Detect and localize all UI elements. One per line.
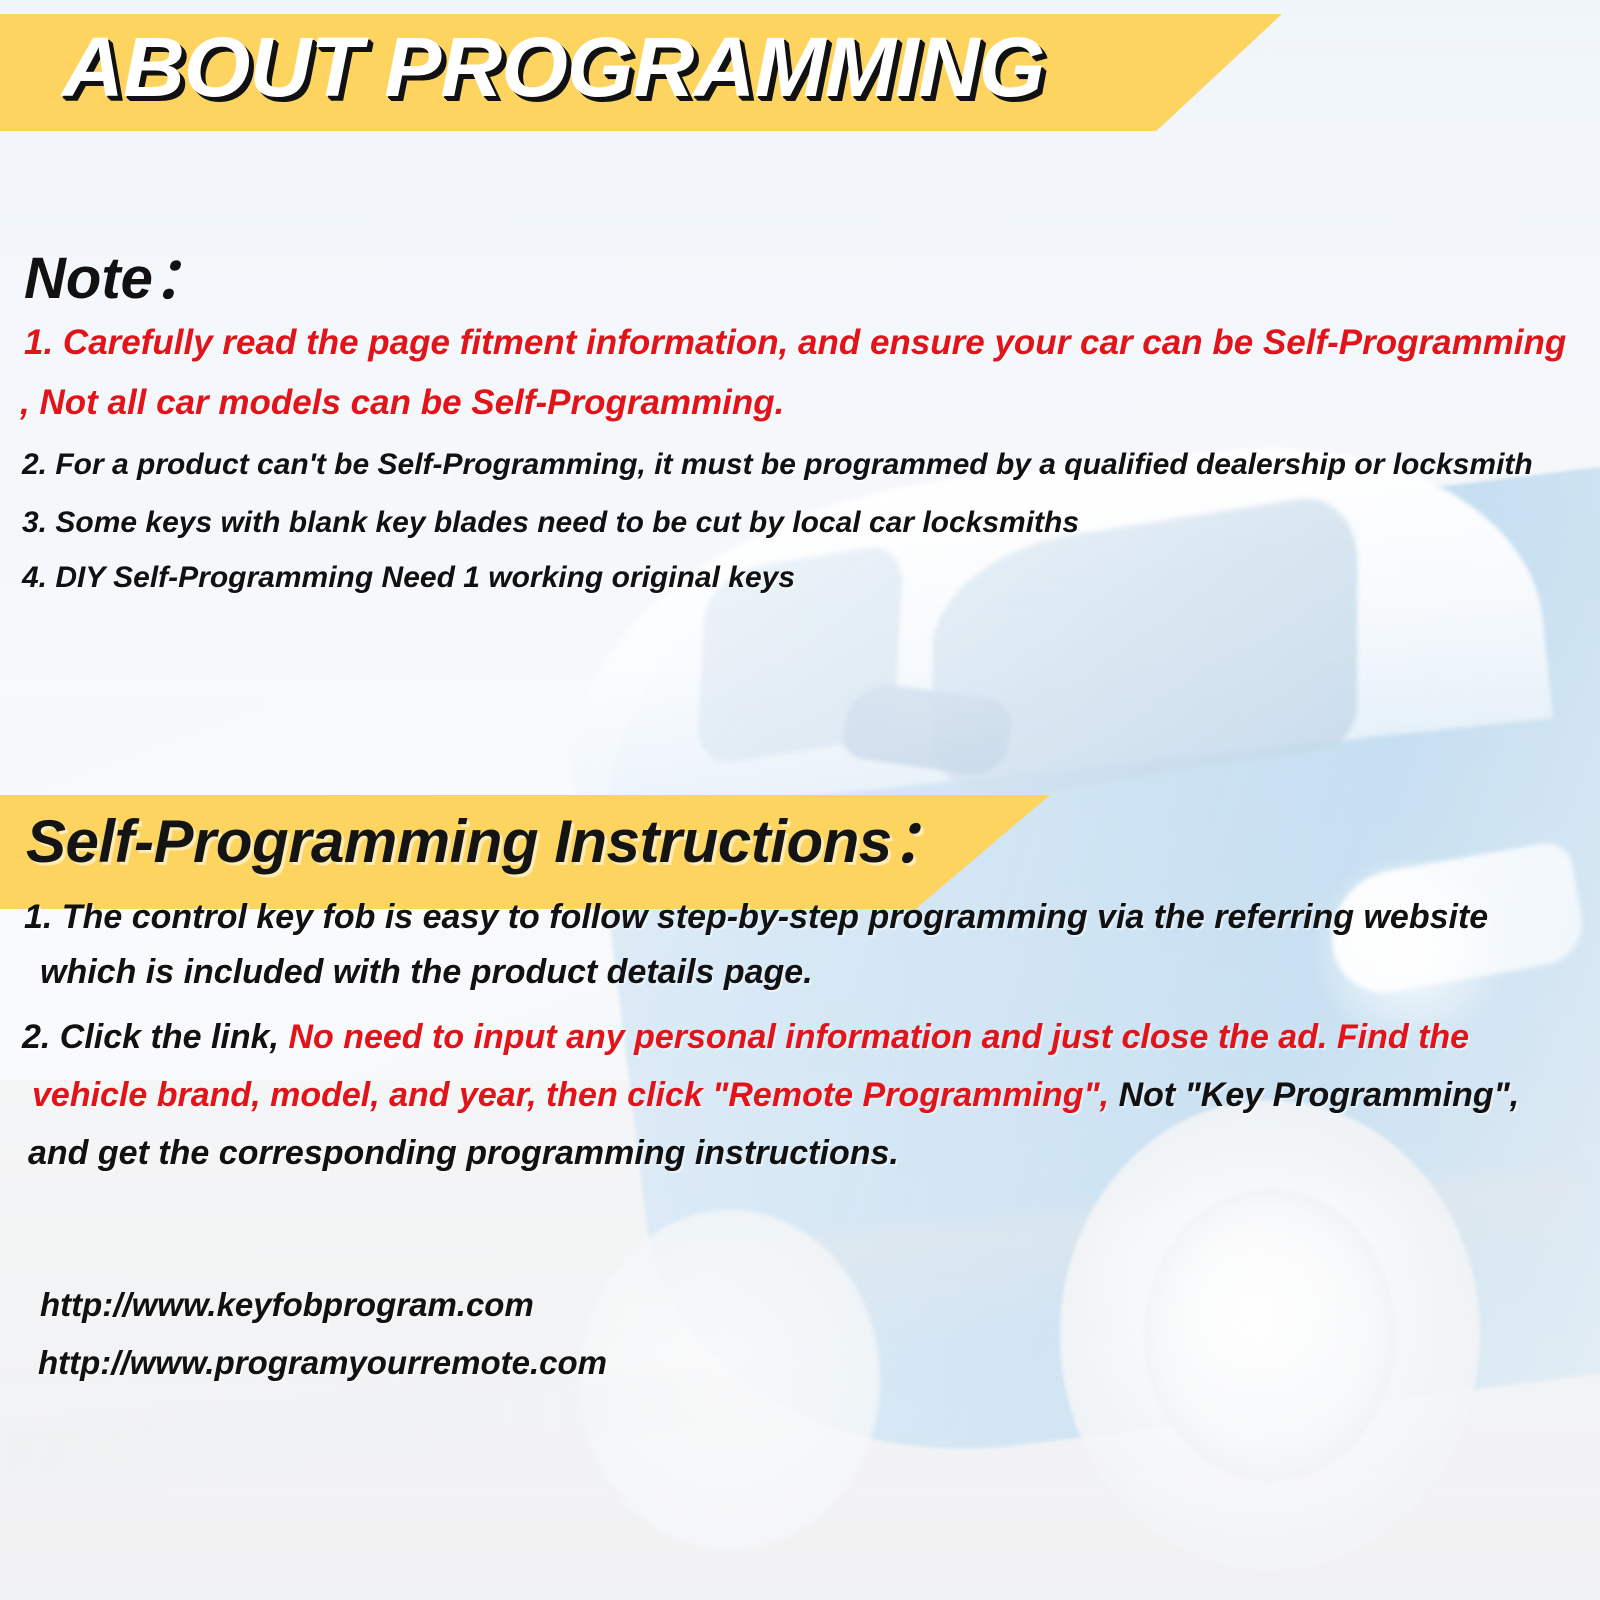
note-item-1-line-2: , Not all car models can be Self-Program… — [20, 385, 784, 420]
instruction-item-2-line-2-red: vehicle brand, model, and year, then cli… — [32, 1076, 1109, 1114]
about-programming-infographic: ABOUT PROGRAMMING Note： 1. Carefully rea… — [0, 0, 1600, 1600]
instruction-item-2-line-1-black: 2. Click the link, — [22, 1018, 279, 1056]
instruction-item-2-line-2: vehicle brand, model, and year, then cli… — [32, 1078, 1519, 1112]
instruction-item-2-line-1-red: No need to input any personal informatio… — [288, 1018, 1469, 1056]
instruction-item-2-line-2-black: Not "Key Programming", — [1119, 1076, 1520, 1114]
link-programyourremote[interactable]: http://www.programyourremote.com — [38, 1346, 607, 1379]
instruction-item-2-line-1: 2. Click the link, No need to input any … — [22, 1020, 1469, 1054]
link-keyfobprogram[interactable]: http://www.keyfobprogram.com — [40, 1288, 534, 1321]
note-item-4: 4. DIY Self-Programming Need 1 working o… — [22, 563, 795, 593]
instructions-heading: Self-Programming Instructions： — [26, 812, 951, 872]
page-title: ABOUT PROGRAMMING — [62, 25, 1044, 109]
instruction-item-2-line-3: and get the corresponding programming in… — [28, 1136, 899, 1170]
instruction-item-1-line-1: 1. The control key fob is easy to follow… — [24, 900, 1488, 934]
note-item-3: 3. Some keys with blank key blades need … — [22, 508, 1079, 538]
note-item-2: 2. For a product can't be Self-Programmi… — [22, 450, 1533, 480]
note-heading: Note： — [24, 250, 211, 308]
instruction-item-1-line-2: which is included with the product detai… — [40, 955, 813, 989]
note-item-1-line-1: 1. Carefully read the page fitment infor… — [24, 325, 1566, 360]
